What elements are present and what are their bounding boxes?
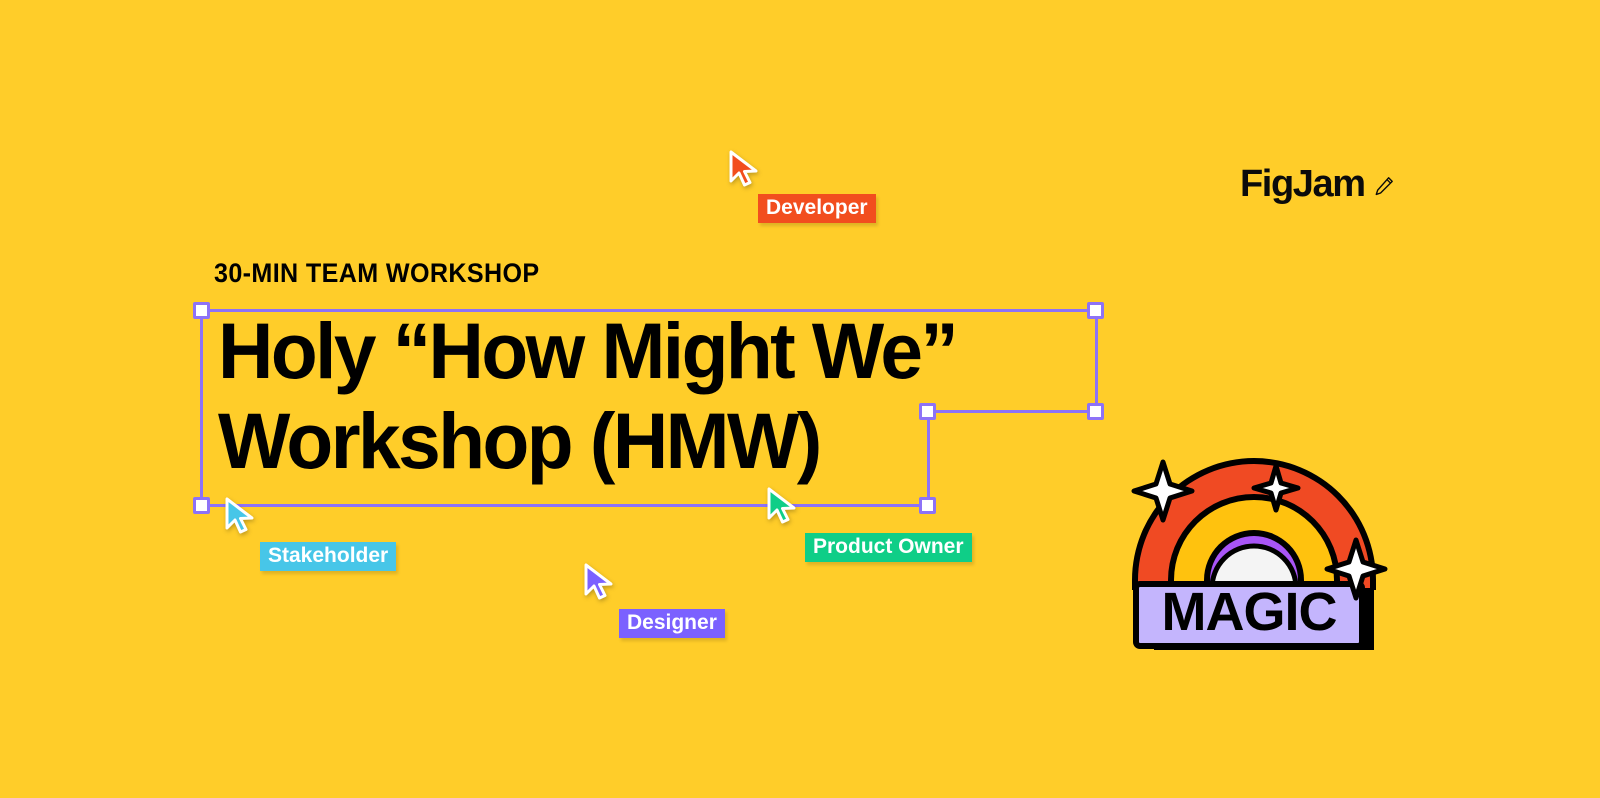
- magic-rainbow-sticker[interactable]: MAGIC: [1122, 438, 1402, 658]
- headline-line-2: Workshop (HMW): [218, 396, 956, 486]
- selection-edge-bottom: [201, 504, 928, 507]
- selection-handle-bottom-mid[interactable]: [919, 497, 936, 514]
- headline-text-object[interactable]: Holy “How Might We” Workshop (HMW): [218, 306, 956, 486]
- selection-edge-step: [928, 410, 1096, 413]
- figjam-wordmark: FigJam: [1240, 165, 1365, 203]
- cursor-label-stakeholder: Stakeholder: [260, 542, 396, 571]
- selection-edge-right-upper: [1095, 309, 1098, 412]
- selection-handle-bottom-left[interactable]: [193, 497, 210, 514]
- selection-handle-top-right[interactable]: [1087, 302, 1104, 319]
- figjam-brand: FigJam: [1240, 165, 1394, 203]
- cursor-product-owner[interactable]: Product Owner: [766, 487, 800, 525]
- pencil-icon[interactable]: [1374, 176, 1394, 196]
- selection-handle-mid-right[interactable]: [1087, 403, 1104, 420]
- cursor-label-developer: Developer: [758, 194, 876, 223]
- selection-edge-top: [201, 309, 1096, 312]
- cursor-label-designer: Designer: [619, 609, 725, 638]
- cursor-arrow-icon: [583, 563, 617, 601]
- figjam-board-canvas[interactable]: FigJam 30-MIN TEAM WORKSHOP Holy “How Mi…: [0, 0, 1600, 798]
- cursor-arrow-icon: [766, 487, 800, 525]
- cursor-label-product-owner: Product Owner: [805, 533, 972, 562]
- magic-banner-label: MAGIC: [1162, 582, 1337, 642]
- cursor-developer[interactable]: Developer: [728, 150, 762, 188]
- selection-handle-top-left[interactable]: [193, 302, 210, 319]
- magic-sticker-art: MAGIC: [1122, 438, 1402, 658]
- cursor-designer[interactable]: Designer: [583, 563, 617, 601]
- selection-edge-left: [200, 309, 203, 505]
- selection-handle-step-inner[interactable]: [919, 403, 936, 420]
- headline-line-1: Holy “How Might We”: [218, 306, 956, 396]
- selection-edge-step-vertical: [927, 410, 930, 506]
- eyebrow-text: 30-MIN TEAM WORKSHOP: [214, 258, 540, 289]
- cursor-arrow-icon: [728, 150, 762, 188]
- cursor-arrow-icon: [224, 497, 258, 535]
- cursor-stakeholder[interactable]: Stakeholder: [224, 497, 258, 535]
